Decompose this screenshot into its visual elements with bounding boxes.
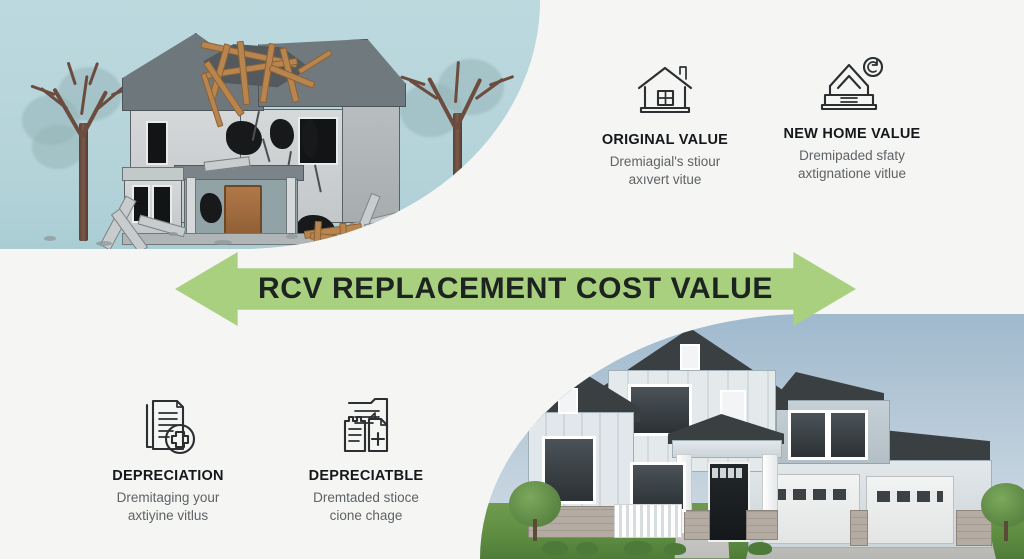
feature-desc-line-2: axtignatione vitlue <box>758 165 946 183</box>
feature-depreciatble: DEPRECIATBLE Dremtaded stioce cione chag… <box>272 388 460 525</box>
garage-door-right <box>866 476 954 544</box>
feature-description: Dremipaded sfaty axtignatione vitlue <box>758 147 946 183</box>
damaged-house <box>118 25 408 243</box>
feature-desc-line-1: Dremiagial's stiour <box>571 153 759 171</box>
ground-debris <box>392 236 402 240</box>
ground-debris <box>286 234 298 239</box>
feature-title: NEW HOME VALUE <box>758 126 946 142</box>
feature-desc-line-2: cione chage <box>272 507 460 525</box>
house-renew-icon <box>758 46 946 124</box>
ground-debris <box>340 242 354 246</box>
damaged-house-illustration <box>0 0 540 249</box>
porch-stone-pier-left <box>684 510 710 540</box>
upper-right-window-2 <box>828 410 868 460</box>
left-gable-small-window <box>558 388 578 414</box>
house-outline-icon <box>571 52 759 130</box>
feature-desc-line-1: Dremipaded sfaty <box>758 147 946 165</box>
feature-original-value: ORIGINAL VALUE Dremiagial's stiour axıve… <box>571 52 759 189</box>
garage-window-strip <box>877 491 943 502</box>
feature-new-home-value: NEW HOME VALUE Dremipaded sfaty axtignat… <box>758 46 946 183</box>
shrub <box>624 541 652 555</box>
rcv-arrow-banner: RCV REPLACEMENT COST VALUE <box>175 252 856 326</box>
feature-depreciation: DEPRECIATION Dremitaging your axtiyine v… <box>74 388 262 525</box>
ground-debris <box>44 236 56 241</box>
feature-title: ORIGINAL VALUE <box>571 132 759 148</box>
documents-add-icon <box>272 388 460 466</box>
feature-description: Dremtaded stioce cione chage <box>272 489 460 525</box>
garage-stone-pier <box>850 510 868 546</box>
garage-window-strip <box>773 489 849 500</box>
feature-title: DEPRECIATION <box>74 468 262 484</box>
yard-tree-right <box>980 469 1024 541</box>
document-plus-icon <box>74 388 262 466</box>
feature-desc-line-1: Dremtaded stioce <box>272 489 460 507</box>
ground-debris <box>96 241 112 246</box>
shrub <box>748 542 772 555</box>
porch-stone-pier-right <box>746 510 778 540</box>
bare-tree-right <box>392 31 522 241</box>
feature-desc-line-2: axıvert vitue <box>571 171 759 189</box>
feature-desc-line-2: axtiyine vitlus <box>74 507 262 525</box>
shrub <box>576 542 598 555</box>
feature-title: DEPRECIATBLE <box>272 468 460 484</box>
rcv-banner-label: RCV REPLACEMENT COST VALUE <box>175 252 856 326</box>
upper-right-window-1 <box>788 410 828 460</box>
yard-tree-left <box>508 465 562 541</box>
feature-description: Dremiagial's stiour axıvert vitue <box>571 153 759 189</box>
ground-debris <box>214 240 232 245</box>
shrub <box>542 541 568 555</box>
feature-description: Dremitaging your axtiyine vitlus <box>74 489 262 525</box>
door-transom <box>712 468 742 478</box>
feature-desc-line-1: Dremitaging your <box>74 489 262 507</box>
porch-railing <box>614 504 682 538</box>
ground-debris <box>168 232 178 236</box>
shrub <box>664 543 686 555</box>
new-house-photo <box>480 314 1024 559</box>
infographic-canvas: RCV REPLACEMENT COST VALUE ORIGINAL VALU… <box>0 0 1024 559</box>
gable-vent-window <box>680 344 700 370</box>
